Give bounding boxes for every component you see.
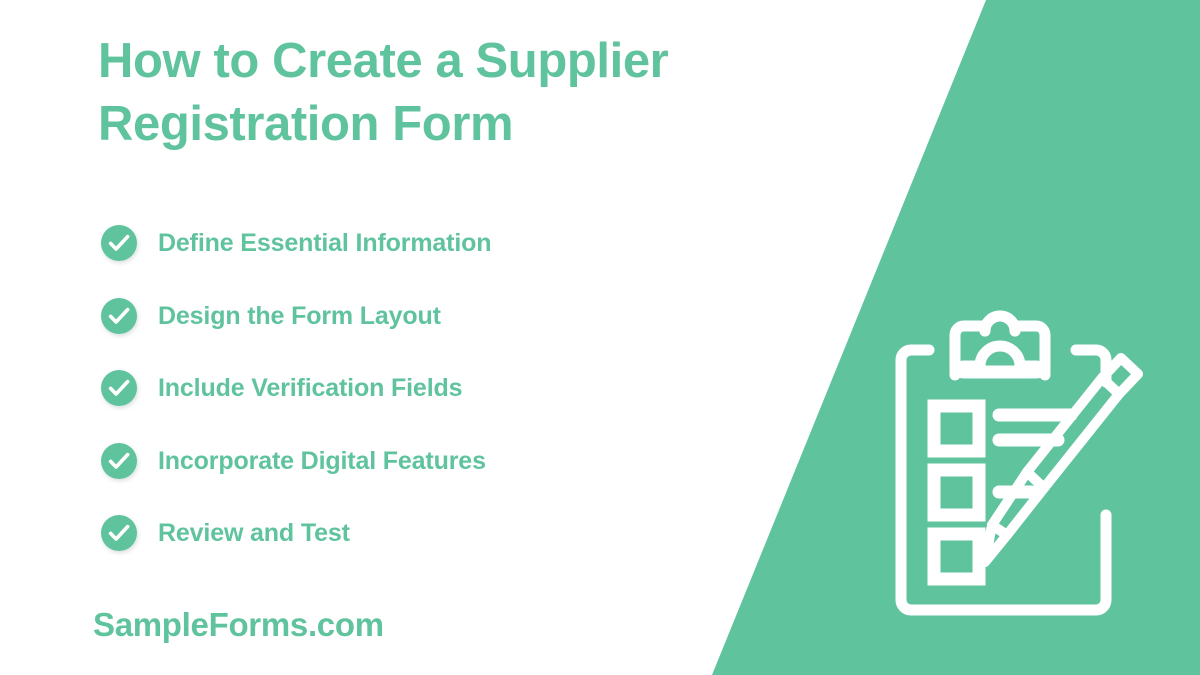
list-item-label: Design the Form Layout: [158, 295, 441, 337]
check-circle-icon: [101, 298, 137, 334]
list-item: Design the Form Layout: [101, 295, 701, 368]
page-title: How to Create a Supplier Registration Fo…: [98, 30, 698, 156]
checkbox-square-2: [934, 470, 979, 515]
text-column: How to Create a Supplier Registration Fo…: [98, 0, 718, 675]
steps-list: Define Essential Information Design the …: [101, 222, 701, 585]
check-circle-icon: [101, 370, 137, 406]
check-circle-icon: [101, 443, 137, 479]
pencil-tip: [985, 525, 1007, 562]
pencil: [985, 358, 1138, 562]
infographic-canvas: How to Create a Supplier Registration Fo…: [0, 0, 1200, 675]
brand-wordmark: SampleForms.com: [93, 606, 384, 644]
list-item-label: Include Verification Fields: [158, 367, 462, 409]
list-item-label: Incorporate Digital Features: [158, 440, 486, 482]
list-item: Incorporate Digital Features: [101, 440, 701, 513]
clipboard-with-pencil-icon: [886, 300, 1166, 630]
checkbox-square-1: [934, 406, 979, 451]
list-item-label: Define Essential Information: [158, 222, 491, 264]
pencil-body-upper: [1027, 378, 1119, 488]
list-item: Include Verification Fields: [101, 367, 701, 440]
list-item: Define Essential Information: [101, 222, 701, 295]
list-item-label: Review and Test: [158, 512, 350, 554]
check-circle-icon: [101, 225, 137, 261]
checkbox-square-3: [934, 534, 979, 579]
check-circle-icon: [101, 515, 137, 551]
list-item: Review and Test: [101, 512, 701, 585]
